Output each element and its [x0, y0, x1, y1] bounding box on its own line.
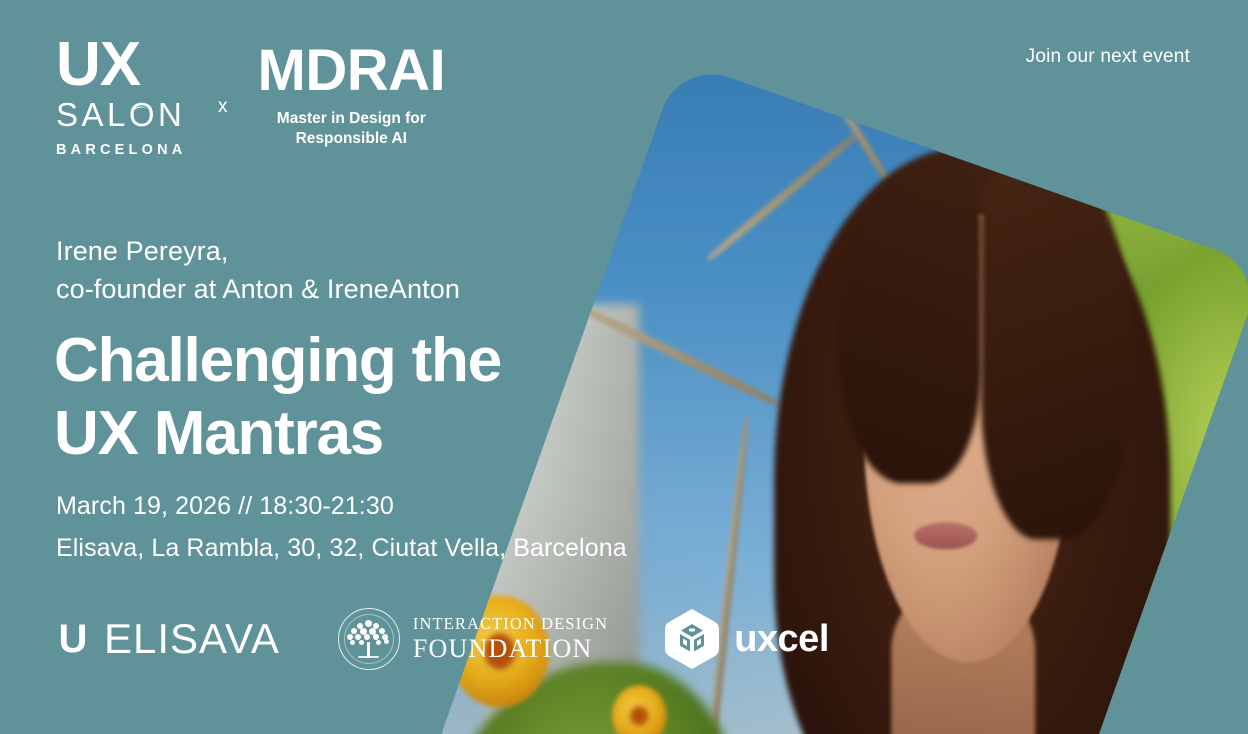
logo-separator-x: x [218, 96, 228, 118]
mdrai-subtitle: Master in Design for Responsible AI [258, 109, 446, 149]
event-details: March 19, 2026 // 18:30-21:30 Elisava, L… [56, 486, 627, 570]
uxcel-wordmark: uxcel [734, 618, 829, 661]
speaker-block: Irene Pereyra, co-founder at Anton & Ire… [56, 232, 460, 309]
photo-flower [1206, 506, 1248, 573]
ux-salon-barcelona-logo: UX SALON BARCELONA [56, 36, 186, 158]
event-title: Challenging the UX Mantras [54, 325, 501, 470]
barcelona-wordmark: BARCELONA [56, 142, 186, 158]
header-logos: UX SALON BARCELONA x MDRAI Master in Des… [56, 36, 445, 158]
idf-trunk [367, 642, 370, 658]
join-event-cta[interactable]: Join our next event [1026, 46, 1190, 68]
mdrai-subtitle-line1: Master in Design for [258, 109, 446, 129]
event-title-line2: UX Mantras [54, 398, 501, 471]
elisava-u-icon: U [56, 620, 90, 658]
idf-line1: INTERACTION DESIGN [413, 616, 608, 633]
event-title-line1: Challenging the [54, 325, 501, 398]
speaker-role: co-founder at Anton & IreneAnton [56, 270, 460, 308]
event-poster: UX SALON BARCELONA x MDRAI Master in Des… [0, 0, 1248, 734]
ux-wordmark: UX [56, 36, 186, 93]
mdrai-logo: MDRAI Master in Design for Responsible A… [258, 36, 446, 149]
sponsor-uxcel[interactable]: uxcel [664, 608, 829, 670]
elisava-wordmark: ELISAVA [104, 615, 280, 663]
photo-foliage [1134, 596, 1248, 734]
idf-tree-graphic [346, 620, 392, 664]
event-venue: Elisava, La Rambla, 30, 32, Ciutat Vella… [56, 528, 627, 570]
event-datetime: March 19, 2026 // 18:30-21:30 [56, 486, 627, 528]
idf-wordmark: INTERACTION DESIGN FOUNDATION [413, 616, 608, 662]
idf-line2: FOUNDATION [413, 636, 608, 662]
mdrai-subtitle-line2: Responsible AI [258, 129, 446, 149]
sponsor-elisava[interactable]: U ELISAVA [56, 615, 280, 663]
mdrai-acronym: MDRAI [258, 42, 446, 100]
salon-wordmark: SALON [56, 96, 186, 134]
sponsor-logos: U ELISAVA [56, 608, 829, 670]
sponsor-interaction-design-foundation[interactable]: INTERACTION DESIGN FOUNDATION [338, 608, 608, 670]
salon-text: SALON [56, 96, 185, 133]
hexagon-cube-icon [664, 608, 720, 670]
tree-emblem-icon [338, 608, 400, 670]
speaker-name: Irene Pereyra, [56, 232, 460, 270]
